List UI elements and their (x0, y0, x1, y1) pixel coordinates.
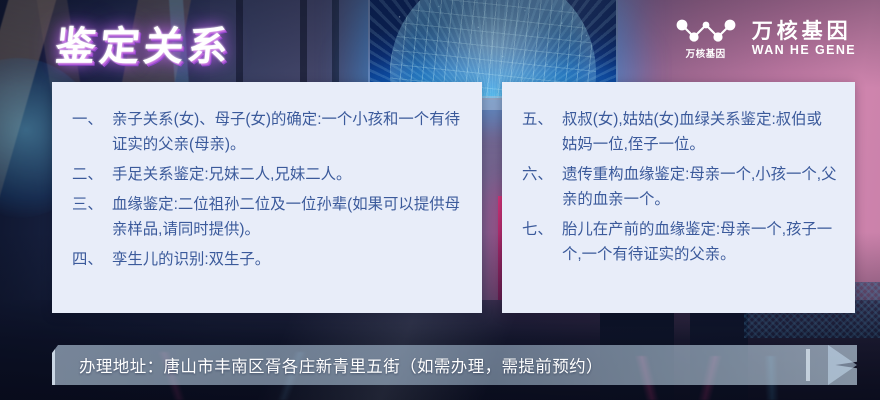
list-item-number: 七、 (522, 218, 562, 243)
list-item: 六、 遗传重构血缘鉴定:母亲一个,小孩一个,父亲的血亲一个。 (522, 163, 837, 213)
list-item-number: 六、 (522, 163, 562, 188)
list-item-text: 孪生儿的识别:双生子。 (112, 248, 464, 273)
address-bar-arrow-icon (828, 345, 857, 385)
list-item-text: 血缘鉴定:二位祖孙二位及一位孙辈(如果可以提供母亲样品,请同时提供)。 (112, 193, 464, 243)
page-title: 鉴定关系 (53, 14, 235, 72)
address-bar: 办理地址：唐山市丰南区胥各庄新青里五街（如需办理，需提前预约） (52, 345, 857, 385)
logo-mark-label: 万核基因 (686, 46, 726, 60)
list-item-number: 三、 (72, 193, 112, 218)
list-item-number: 五、 (522, 108, 562, 133)
list-item: 二、 手足关系鉴定:兄妹二人,兄妹二人。 (72, 163, 464, 188)
list-item-number: 一、 (72, 108, 112, 133)
list-item-text: 胎儿在产前的血缘鉴定:母亲一个,孩子一个,一个有待证实的父亲。 (562, 218, 837, 268)
logo-mark: 万核基因 (674, 18, 738, 60)
panel-right: 五、 叔叔(女),姑姑(女)血绿关系鉴定:叔伯或姑妈一位,侄子一位。 六、 遗传… (502, 82, 855, 313)
list-item: 一、 亲子关系(女)、母子(女)的确定:一个小孩和一个有待证实的父亲(母亲)。 (72, 108, 464, 158)
panel-left-content: 一、 亲子关系(女)、母子(女)的确定:一个小孩和一个有待证实的父亲(母亲)。 … (52, 82, 482, 273)
logo-name-en: WAN HE GENE (752, 44, 856, 58)
list-item: 五、 叔叔(女),姑姑(女)血绿关系鉴定:叔伯或姑妈一位,侄子一位。 (522, 108, 837, 158)
list-item-text: 亲子关系(女)、母子(女)的确定:一个小孩和一个有待证实的父亲(母亲)。 (112, 108, 464, 158)
list-item: 三、 血缘鉴定:二位祖孙二位及一位孙辈(如果可以提供母亲样品,请同时提供)。 (72, 193, 464, 243)
list-item: 七、 胎儿在产前的血缘鉴定:母亲一个,孩子一个,一个有待证实的父亲。 (522, 218, 837, 268)
list-item-number: 四、 (72, 248, 112, 273)
list-item-text: 遗传重构血缘鉴定:母亲一个,小孩一个,父亲的血亲一个。 (562, 163, 837, 213)
logo-wordmark: 万核基因 WAN HE GENE (752, 20, 856, 58)
address-text: 办理地址：唐山市丰南区胥各庄新青里五街（如需办理，需提前预约） (55, 353, 603, 377)
list-item: 四、 孪生儿的识别:双生子。 (72, 248, 464, 273)
logo-name-cn: 万核基因 (752, 20, 856, 44)
brand-logo: 万核基因 万核基因 WAN HE GENE (674, 18, 856, 60)
panel-left: 一、 亲子关系(女)、母子(女)的确定:一个小孩和一个有待证实的父亲(母亲)。 … (52, 82, 482, 313)
molecule-network-icon (674, 18, 738, 44)
list-item-text: 手足关系鉴定:兄妹二人,兄妹二人。 (112, 163, 464, 188)
address-bar-tick (806, 349, 810, 381)
panel-right-content: 五、 叔叔(女),姑姑(女)血绿关系鉴定:叔伯或姑妈一位,侄子一位。 六、 遗传… (502, 82, 855, 268)
list-item-text: 叔叔(女),姑姑(女)血绿关系鉴定:叔伯或姑妈一位,侄子一位。 (562, 108, 837, 158)
poster-root: 鉴定关系 (0, 0, 880, 400)
list-item-number: 二、 (72, 163, 112, 188)
